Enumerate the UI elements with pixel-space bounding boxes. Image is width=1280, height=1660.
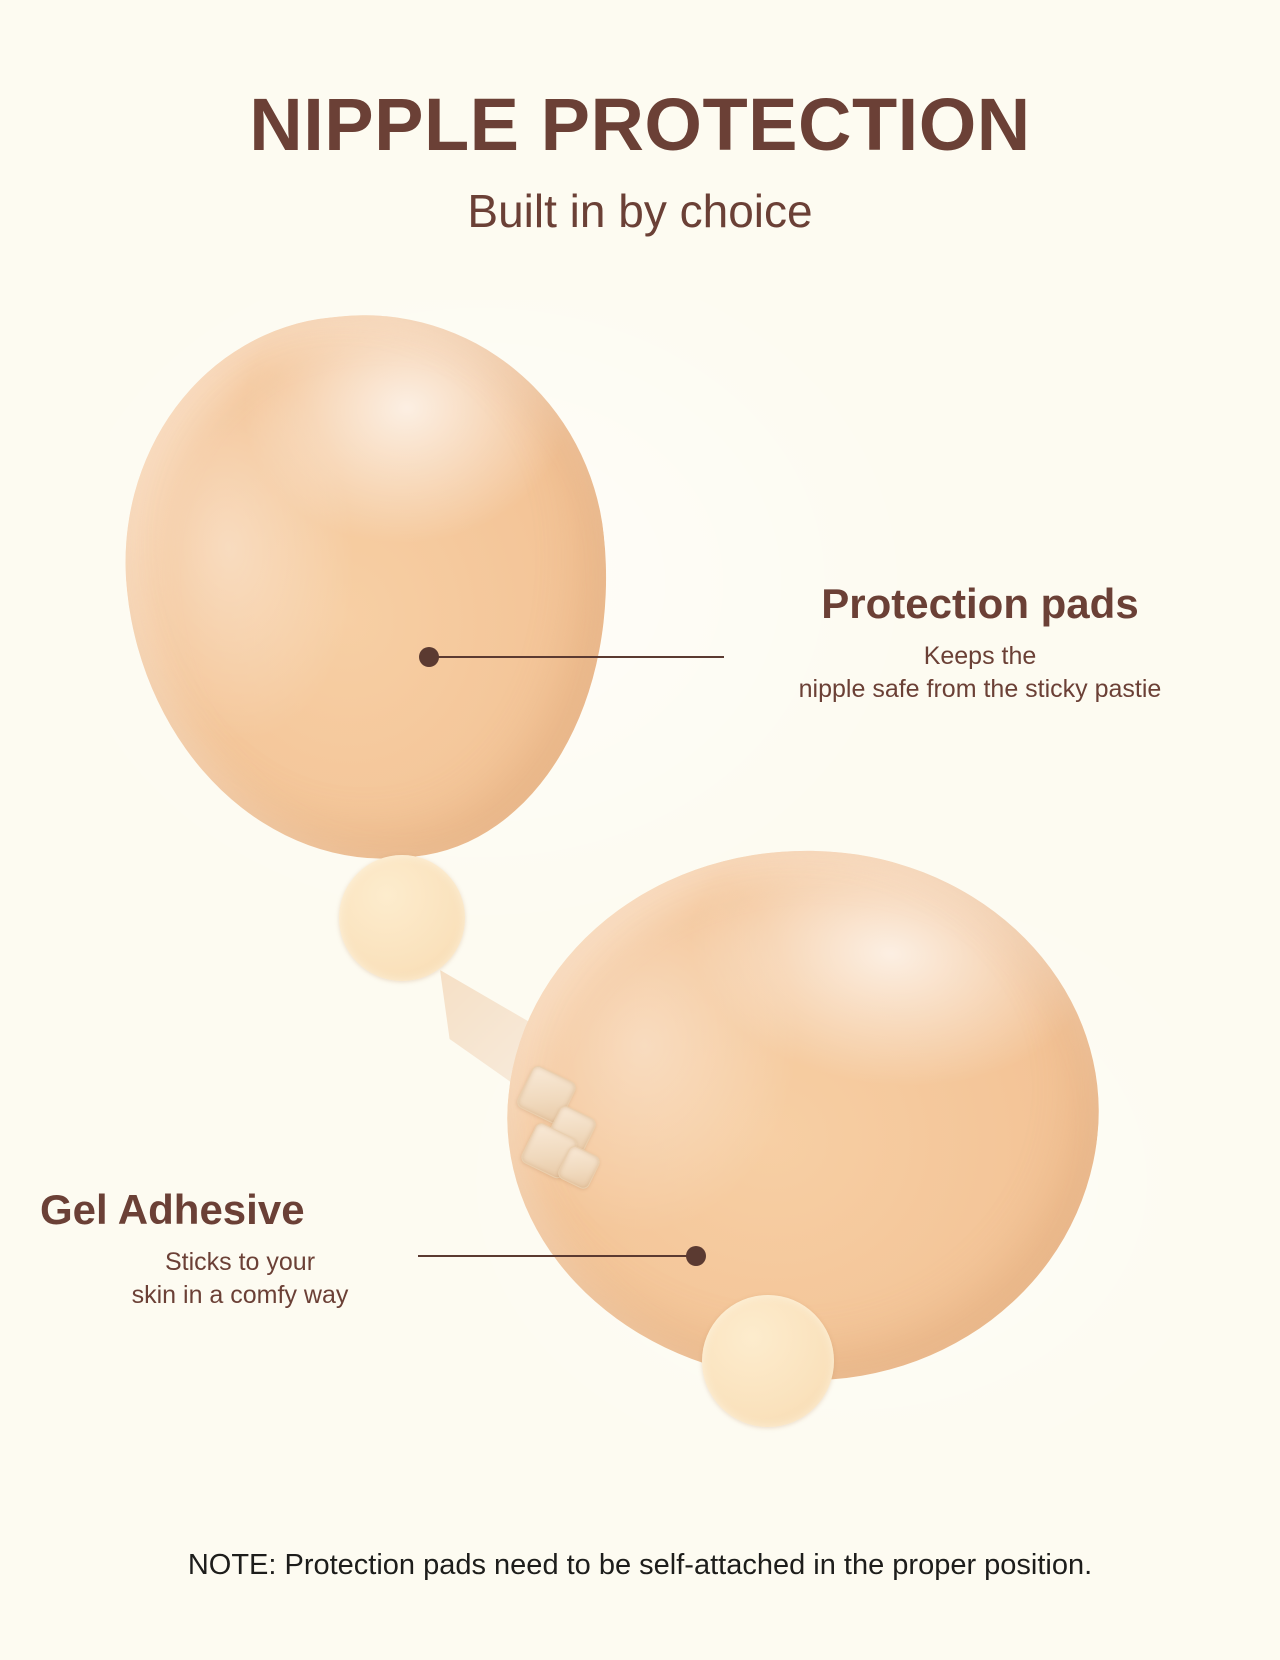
callout-protection-pads: Protection pads Keeps the nipple safe fr… (740, 582, 1220, 705)
callout-desc-line: Keeps the (740, 640, 1220, 673)
footer-note: NOTE: Protection pads need to be self-at… (0, 1548, 1280, 1583)
callout-line-gel-adhesive (418, 1255, 696, 1257)
callout-heading-protection-pads: Protection pads (740, 582, 1220, 626)
pastie-upper (101, 291, 635, 883)
protection-pad-lower (702, 1295, 834, 1427)
infographic-canvas: NIPPLE PROTECTION Built in by choice Pro… (0, 0, 1280, 1660)
callout-desc-line: Sticks to your (40, 1246, 440, 1279)
callout-description-protection-pads: Keeps the nipple safe from the sticky pa… (740, 640, 1220, 705)
callout-desc-line: nipple safe from the sticky pastie (740, 673, 1220, 706)
page-subtitle: Built in by choice (0, 188, 1280, 234)
callout-gel-adhesive: Gel Adhesive Sticks to your skin in a co… (40, 1188, 440, 1311)
callout-description-gel-adhesive: Sticks to your skin in a comfy way (40, 1246, 440, 1311)
page-title: NIPPLE PROTECTION (0, 88, 1280, 162)
callout-heading-gel-adhesive: Gel Adhesive (40, 1188, 440, 1232)
callout-desc-line: skin in a comfy way (40, 1279, 440, 1312)
callout-line-protection-pads (428, 656, 724, 658)
header: NIPPLE PROTECTION Built in by choice (0, 0, 1280, 234)
protection-pad-upper (339, 855, 465, 981)
